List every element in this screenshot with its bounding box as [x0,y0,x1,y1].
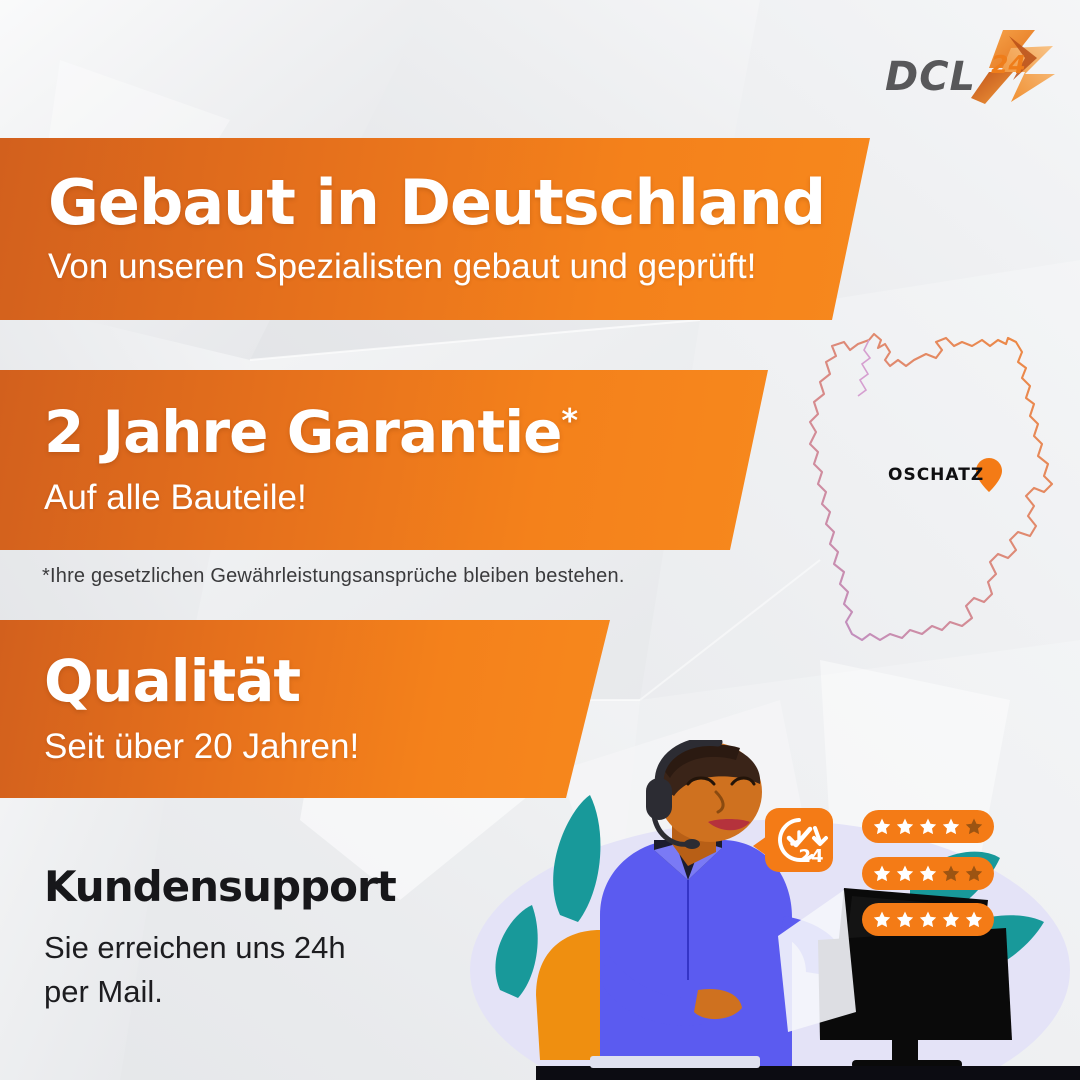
logo-superscript: 24 [991,50,1026,79]
banner-gebaut-in-deutschland: Gebaut in Deutschland Von unseren Spezia… [0,138,870,320]
banner-title: 2 Jahre Garantie [44,398,561,466]
star-filled-icon [895,863,915,885]
star-filled-icon [918,909,938,931]
star-empty-icon [941,863,961,885]
banner-title: Gebaut in Deutschland [48,172,870,234]
star-empty-icon [964,816,984,838]
star-filled-icon [941,909,961,931]
star-filled-icon [918,816,938,838]
desk-surface [536,1066,1080,1080]
dcl24-logo: DCL 24 [885,28,1060,106]
star-empty-icon [964,863,984,885]
banner-title-row: 2 Jahre Garantie* [44,403,768,461]
banner-text: Gebaut in Deutschland Von unseren Spezia… [0,172,870,287]
asterisk-marker: * [561,401,577,439]
star-filled-icon [872,863,892,885]
star-filled-icon [895,909,915,931]
banner-text: 2 Jahre Garantie* Auf alle Bauteile! [0,403,768,518]
monitor-stand [892,1040,918,1062]
rating-row-3 [862,903,994,936]
customer-support-block: Kundensupport Sie erreichen uns 24h per … [44,862,396,1013]
map-city-label: OSCHATZ [888,465,984,485]
clock-check-24-icon: 24 [765,808,833,872]
star-filled-icon [918,863,938,885]
banner-2-jahre-garantie: 2 Jahre Garantie* Auf alle Bauteile! [0,370,768,550]
germany-outline-icon [786,330,1076,670]
support-line-1: Sie erreichen uns 24h [44,927,396,969]
star-filled-icon [872,816,892,838]
star-filled-icon [895,816,915,838]
banner-subtitle: Auf alle Bauteile! [44,479,768,518]
banner-title: Qualität [44,652,610,710]
rating-row-2 [862,857,994,890]
star-filled-icon [941,816,961,838]
support-line-2: per Mail. [44,971,396,1013]
banner-subtitle: Von unseren Spezialisten gebaut und gepr… [48,248,870,287]
logo-wordmark: DCL [885,54,976,100]
warranty-footnote: *Ihre gesetzlichen Gewährleistungsansprü… [42,565,625,588]
headset-earcup [646,778,672,820]
headset-mic [684,839,700,849]
star-filled-icon [872,909,892,931]
support-24h-badge: 24 [765,808,833,872]
germany-map [786,330,1076,670]
promo-graphic: DCL 24 Gebaut in Deutschland Von unseren… [0,0,1080,1080]
keyboard [590,1056,760,1068]
star-filled-icon [964,909,984,931]
support-heading: Kundensupport [44,862,396,911]
agent-shirt [600,840,792,1070]
speech-bubble-tail [753,836,767,856]
badge-hours-text: 24 [798,846,823,867]
rating-row-1 [862,810,994,843]
